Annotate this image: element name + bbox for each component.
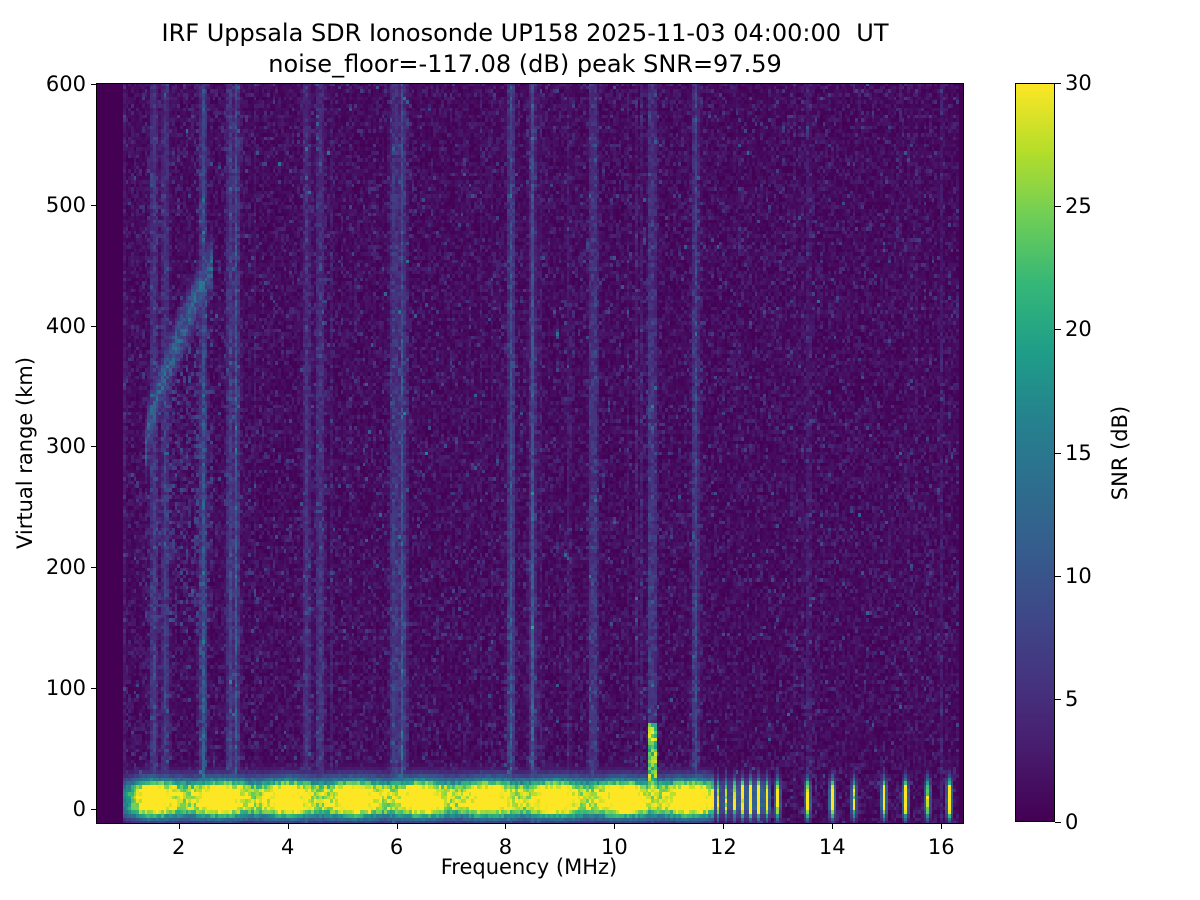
x-tick-mark <box>614 823 615 829</box>
y-tick-label: 300 <box>46 434 86 458</box>
figure-title: IRF Uppsala SDR Ionosonde UP158 2025-11-… <box>0 18 1050 80</box>
y-tick-label: 400 <box>46 314 86 338</box>
y-tick-label: 600 <box>46 72 86 96</box>
y-tick-mark <box>91 567 97 568</box>
title-line-2: noise_floor=-117.08 (dB) peak SNR=97.59 <box>0 49 1050 80</box>
x-tick-mark <box>941 823 942 829</box>
colorbar-tick-label: 15 <box>1065 441 1092 465</box>
colorbar-tick-label: 5 <box>1065 687 1078 711</box>
plot-area[interactable]: 0100200300400500600 246810121416 <box>96 83 964 824</box>
x-axis-title: Frequency (MHz) <box>96 855 962 879</box>
colorbar-title-text: SNR (dB) <box>1108 405 1132 499</box>
x-tick-mark <box>397 823 398 829</box>
y-axis-title-text: Virtual range (km) <box>13 356 37 548</box>
y-tick-label: 0 <box>73 797 86 821</box>
colorbar-tick-label: 10 <box>1065 564 1092 588</box>
ionogram-figure: IRF Uppsala SDR Ionosonde UP158 2025-11-… <box>0 0 1200 900</box>
colorbar-tick-mark <box>1055 822 1061 823</box>
y-tick-label: 500 <box>46 193 86 217</box>
y-tick-mark <box>91 688 97 689</box>
colorbar-gradient <box>1015 83 1055 822</box>
y-tick-mark <box>91 809 97 810</box>
colorbar-tick-label: 0 <box>1065 810 1078 834</box>
colorbar-tick-mark <box>1055 83 1061 84</box>
y-tick-label: 200 <box>46 555 86 579</box>
y-tick-mark <box>91 446 97 447</box>
colorbar-tick-mark <box>1055 576 1061 577</box>
ionogram-heatmap <box>97 84 963 823</box>
x-tick-mark <box>832 823 833 829</box>
x-tick-mark <box>505 823 506 829</box>
x-tick-mark <box>179 823 180 829</box>
colorbar[interactable]: 051015202530 <box>1015 83 1055 822</box>
colorbar-tick-mark <box>1055 329 1061 330</box>
y-tick-mark <box>91 326 97 327</box>
y-axis-title: Virtual range (km) <box>10 83 40 822</box>
x-tick-mark <box>723 823 724 829</box>
colorbar-tick-mark <box>1055 699 1061 700</box>
colorbar-tick-mark <box>1055 453 1061 454</box>
colorbar-tick-label: 20 <box>1065 317 1092 341</box>
y-tick-mark <box>91 84 97 85</box>
x-tick-mark <box>288 823 289 829</box>
colorbar-tick-label: 30 <box>1065 71 1092 95</box>
colorbar-tick-label: 25 <box>1065 194 1092 218</box>
colorbar-title: SNR (dB) <box>1105 83 1135 822</box>
y-tick-mark <box>91 205 97 206</box>
colorbar-tick-mark <box>1055 206 1061 207</box>
title-line-1: IRF Uppsala SDR Ionosonde UP158 2025-11-… <box>0 18 1050 49</box>
y-tick-label: 100 <box>46 676 86 700</box>
